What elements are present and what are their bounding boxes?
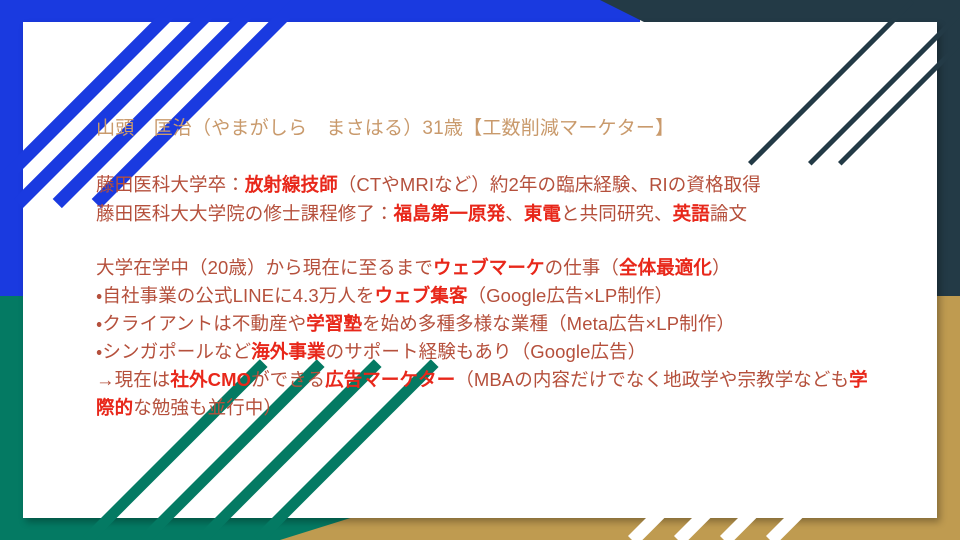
highlight-radiologic-technologist: 放射線技師: [245, 174, 338, 195]
highlight-english: 英語: [673, 203, 710, 224]
career-line-4: ・シンガポールなど海外事業のサポート経験もあり（Google広告）: [96, 338, 886, 366]
education-line-2: 藤田医科大大学院の修士課程修了：福島第一原発、東電と共同研究、英語論文: [96, 200, 886, 228]
text-segment: 藤田医科大学卒：: [96, 174, 245, 195]
highlight-tepco: 東電: [524, 203, 561, 224]
highlight-overall-optimization: 全体最適化: [619, 257, 712, 278]
career-line-3: ・クライアントは不動産や学習塾を始め多種多様な業種（Meta広告×LP制作）: [96, 310, 886, 338]
education-block: 藤田医科大学卒：放射線技師（CTやMRIなど）約2年の臨床経験、RIの資格取得 …: [96, 171, 886, 227]
text-segment: 、: [505, 203, 524, 224]
text-segment: 藤田医科大大学院の修士課程修了：: [96, 203, 394, 224]
highlight-web-marketing: ウェブマーケ: [433, 257, 545, 278]
highlight-web-acquisition: ウェブ集客: [375, 285, 468, 306]
text-segment: ）: [712, 257, 731, 278]
career-line-5: →現在は社外CMOができる広告マーケター（MBAの内容だけでなく地政学や宗教学な…: [96, 366, 886, 422]
profile-headline: 山頭 匡治（やまがしら まさはる）31歳【工数削減マーケター】: [96, 114, 886, 143]
text-segment: 論文: [710, 203, 747, 224]
highlight-overseas-business: 海外事業: [251, 341, 325, 362]
career-line-2: ・自社事業の公式LINEに4.3万人をウェブ集客（Google広告×LP制作）: [96, 282, 886, 310]
text-segment: →現在は: [96, 369, 170, 390]
slide-canvas: 山頭 匡治（やまがしら まさはる）31歳【工数削減マーケター】 藤田医科大学卒：…: [0, 0, 960, 540]
text-segment: な勉強も並行中）: [133, 397, 282, 418]
highlight-ad-marketer: 広告マーケター: [325, 369, 455, 390]
text-segment: の仕事（: [545, 257, 619, 278]
text-segment: （Google広告×LP制作）: [468, 285, 674, 306]
text-segment: と共同研究、: [561, 203, 673, 224]
text-segment: ができる: [251, 369, 325, 390]
career-line-1: 大学在学中（20歳）から現在に至るまでウェブマーケの仕事（全体最適化）: [96, 254, 886, 282]
highlight-external-cmo: 社外CMO: [170, 369, 251, 390]
highlight-fukushima-plant: 福島第一原発: [394, 203, 506, 224]
text-segment: のサポート経験もあり（Google広告）: [326, 341, 647, 362]
text-segment: ・シンガポールなど: [96, 341, 251, 362]
text-segment: ・クライアントは不動産や: [96, 313, 306, 334]
text-segment: 大学在学中（20歳）から現在に至るまで: [96, 257, 433, 278]
spacer: [96, 228, 886, 254]
spacer: [96, 143, 886, 171]
slide-text-content: 山頭 匡治（やまがしら まさはる）31歳【工数削減マーケター】 藤田医科大学卒：…: [96, 114, 886, 422]
text-segment: を始め多種多様な業種（Meta広告×LP制作）: [362, 313, 735, 334]
career-block: 大学在学中（20歳）から現在に至るまでウェブマーケの仕事（全体最適化） ・自社事…: [96, 254, 886, 423]
text-segment: （CTやMRIなど）約2年の臨床経験、RIの資格取得: [338, 174, 761, 195]
highlight-cram-school: 学習塾: [306, 313, 362, 334]
text-segment: （MBAの内容だけでなく地政学や宗教学なども: [455, 369, 849, 390]
education-line-1: 藤田医科大学卒：放射線技師（CTやMRIなど）約2年の臨床経験、RIの資格取得: [96, 171, 886, 199]
text-segment: ・自社事業の公式LINEに4.3万人を: [96, 285, 375, 306]
